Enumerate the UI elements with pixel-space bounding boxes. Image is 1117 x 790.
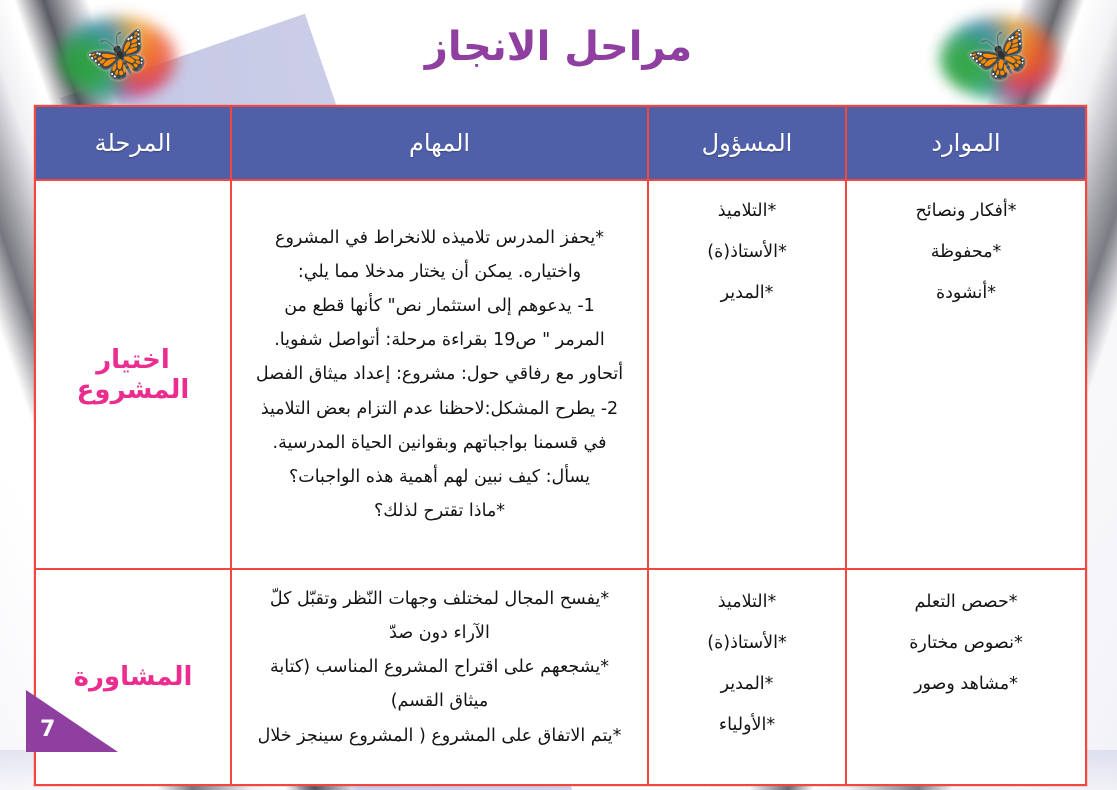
column-header-tasks: المهام bbox=[231, 106, 648, 180]
slide-canvas: 🦋 🦋 مراحل الانجاز الموارد المسؤول المهام… bbox=[0, 0, 1117, 790]
text-line: *التلاميذ bbox=[659, 191, 835, 232]
text-line: *محفوظة bbox=[857, 232, 1075, 273]
text-line: *يحفز المدرس تلاميذه للانخراط في المشروع bbox=[242, 221, 637, 255]
text-line: ميثاق القسم) bbox=[242, 684, 637, 718]
text-line: أتحاور مع رفاقي حول: مشروع: إعداد ميثاق … bbox=[242, 357, 637, 391]
text-line: *يتم الاتفاق على المشروع ( المشروع سينجز… bbox=[242, 719, 637, 753]
cell-responsible: *التلاميذ*الأستاذ(ة)*المدير bbox=[648, 180, 846, 569]
table-header-row: الموارد المسؤول المهام المرحلة bbox=[35, 106, 1086, 180]
text-line: في قسمنا بواجباتهم وبقوانين الحياة المدر… bbox=[242, 426, 637, 460]
cell-stage: اختيار المشروع bbox=[35, 180, 231, 569]
text-line: يسأل: كيف نبين لهم أهمية هذه الواجبات؟ bbox=[242, 460, 637, 494]
cell-tasks: *يفسح المجال لمختلف وجهات النّظر وتقبّل … bbox=[231, 569, 648, 785]
text-line: *يفسح المجال لمختلف وجهات النّظر وتقبّل … bbox=[242, 582, 637, 616]
page-number-badge: 7 bbox=[26, 690, 118, 752]
cell-resources: *حصص التعلم*نصوص مختارة*مشاهد وصور bbox=[846, 569, 1086, 785]
project-stages-table: الموارد المسؤول المهام المرحلة *أفكار ون… bbox=[34, 105, 1087, 786]
page-title: مراحل الانجاز bbox=[0, 24, 1117, 70]
text-line: *الأستاذ(ة) bbox=[659, 623, 835, 664]
text-line: *الأولياء bbox=[659, 705, 835, 746]
text-line: المرمر " ص19 بقراءة مرحلة: أتواصل شفويا. bbox=[242, 323, 637, 357]
table-row: *حصص التعلم*نصوص مختارة*مشاهد وصور *التل… bbox=[35, 569, 1086, 785]
text-line: 2- يطرح المشكل:لاحظنا عدم التزام بعض الت… bbox=[242, 392, 637, 426]
text-line: *أفكار ونصائح bbox=[857, 191, 1075, 232]
text-line: *يشجعهم على اقتراح المشروع المناسب (كتاب… bbox=[242, 650, 637, 684]
text-line: *التلاميذ bbox=[659, 582, 835, 623]
column-header-resources: الموارد bbox=[846, 106, 1086, 180]
text-line: *المدير bbox=[659, 664, 835, 705]
text-line: الآراء دون صدّ bbox=[242, 616, 637, 650]
page-number-label: 7 bbox=[40, 717, 55, 742]
column-header-responsible: المسؤول bbox=[648, 106, 846, 180]
cell-tasks: *يحفز المدرس تلاميذه للانخراط في المشروع… bbox=[231, 180, 648, 569]
cell-responsible: *التلاميذ*الأستاذ(ة)*المدير*الأولياء bbox=[648, 569, 846, 785]
column-header-stage: المرحلة bbox=[35, 106, 231, 180]
text-line: *حصص التعلم bbox=[857, 582, 1075, 623]
cell-resources: *أفكار ونصائح*محفوظة*أنشودة bbox=[846, 180, 1086, 569]
table-row: *أفكار ونصائح*محفوظة*أنشودة *التلاميذ*ال… bbox=[35, 180, 1086, 569]
text-line: 1- يدعوهم إلى استثمار نص" كأنها قطع من bbox=[242, 289, 637, 323]
text-line: *الأستاذ(ة) bbox=[659, 232, 835, 273]
text-line: *نصوص مختارة bbox=[857, 623, 1075, 664]
text-line: *المدير bbox=[659, 273, 835, 314]
table-body: *أفكار ونصائح*محفوظة*أنشودة *التلاميذ*ال… bbox=[35, 180, 1086, 785]
text-line: *ماذا تقترح لذلك؟ bbox=[242, 494, 637, 528]
text-line: واختياره. يمكن أن يختار مدخلا مما يلي: bbox=[242, 255, 637, 289]
cell-stage: المشاورة bbox=[35, 569, 231, 785]
table-header: الموارد المسؤول المهام المرحلة bbox=[35, 106, 1086, 180]
text-line: *أنشودة bbox=[857, 273, 1075, 314]
text-line: *مشاهد وصور bbox=[857, 664, 1075, 705]
